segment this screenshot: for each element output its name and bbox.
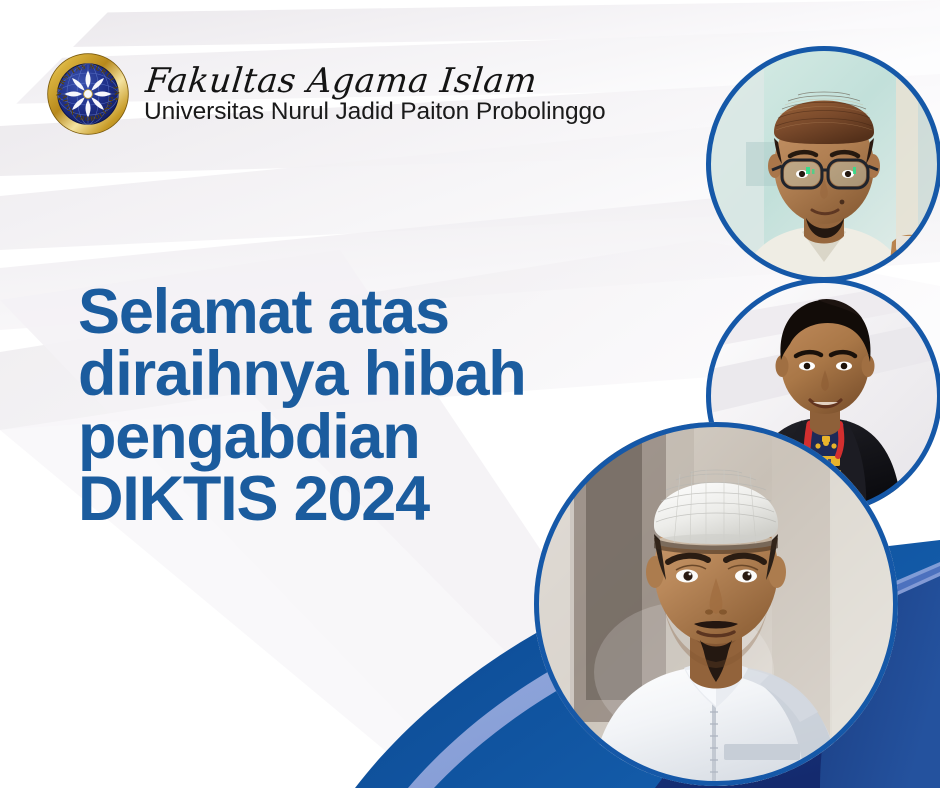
headline-line-3: pengabdian [78,406,526,468]
headline-line-2: diraihnya hibah [78,343,526,405]
faculty-name: Fakultas Agama Islam [144,64,609,98]
headline-line-1: Selamat atas [78,281,526,343]
portrait-man-brown-peci [706,46,940,282]
portrait-man-white-kopiah [534,422,898,786]
university-seal-icon: UNIVERSITAS NURUL JADID PAITON PROBOLING… [46,52,130,136]
poster-canvas: UNIVERSITAS NURUL JADID PAITON PROBOLING… [0,0,940,788]
header-text-block: Fakultas Agama Islam Universitas Nurul J… [144,64,606,125]
university-logo: UNIVERSITAS NURUL JADID PAITON PROBOLING… [46,52,130,136]
headline-line-4: DIKTIS 2024 [78,468,526,530]
page-title: Selamat atas diraihnya hibah pengabdian … [78,281,526,530]
header: UNIVERSITAS NURUL JADID PAITON PROBOLING… [46,52,606,136]
university-name: Universitas Nurul Jadid Paiton Proboling… [144,100,606,125]
photo-circle-top [706,46,940,282]
photo-circle-large [534,422,898,786]
